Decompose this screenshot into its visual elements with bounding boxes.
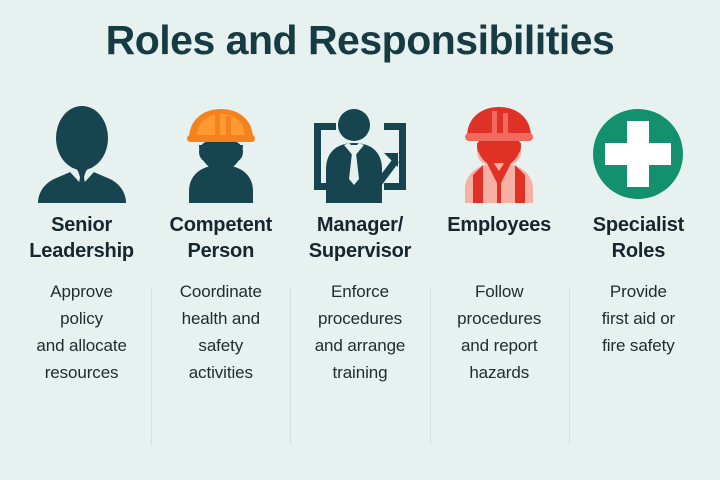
role-column-employees: Employees Follow procedures and report h… bbox=[430, 100, 569, 386]
infographic-poster: Roles and Responsibilities Senior Leader… bbox=[0, 0, 720, 480]
manager-presentation-chart-icon bbox=[306, 100, 414, 208]
role-description: Provide first aid or fire safety bbox=[602, 279, 675, 360]
role-description: Coordinate health and safety activities bbox=[180, 279, 262, 386]
role-description: Enforce procedures and arrange training bbox=[315, 279, 406, 386]
role-desc-line: Coordinate bbox=[180, 279, 262, 306]
role-desc-line: safety bbox=[180, 333, 262, 360]
role-title-line: Competent bbox=[169, 212, 272, 238]
role-desc-line: hazards bbox=[457, 360, 541, 387]
business-person-suit-icon bbox=[30, 100, 134, 208]
role-title-line: Employees bbox=[447, 212, 551, 238]
role-desc-line: Approve bbox=[36, 279, 126, 306]
role-title: Senior Leadership bbox=[29, 212, 134, 266]
worker-red-hardhat-vest-icon bbox=[449, 100, 549, 208]
role-desc-line: Enforce bbox=[315, 279, 406, 306]
person-orange-hardhat-icon bbox=[171, 100, 271, 208]
role-desc-line: Provide bbox=[602, 279, 675, 306]
role-desc-line: procedures bbox=[457, 306, 541, 333]
role-title: Competent Person bbox=[169, 212, 272, 266]
role-desc-line: activities bbox=[180, 360, 262, 387]
roles-columns: Senior Leadership Approve policy and all… bbox=[12, 100, 708, 386]
role-desc-line: procedures bbox=[315, 306, 406, 333]
role-desc-line: fire safety bbox=[602, 333, 675, 360]
role-desc-line: Follow bbox=[457, 279, 541, 306]
role-title-line: Senior bbox=[29, 212, 134, 238]
role-title-line: Supervisor bbox=[309, 238, 411, 264]
role-description: Approve policy and allocate resources bbox=[36, 279, 126, 386]
role-column-specialist-roles: Specialist Roles Provide first aid or fi… bbox=[569, 100, 708, 360]
role-title-line: Roles bbox=[593, 238, 684, 264]
role-title-line: Person bbox=[169, 238, 272, 264]
role-column-competent-person: Competent Person Coordinate health and s… bbox=[151, 100, 290, 386]
role-title: Employees bbox=[447, 212, 551, 266]
role-desc-line: resources bbox=[36, 360, 126, 387]
role-desc-line: health and bbox=[180, 306, 262, 333]
role-desc-line: and arrange bbox=[315, 333, 406, 360]
page-title: Roles and Responsibilities bbox=[0, 18, 720, 63]
role-column-senior-leadership: Senior Leadership Approve policy and all… bbox=[12, 100, 151, 386]
role-title-line: Leadership bbox=[29, 238, 134, 264]
role-title: Specialist Roles bbox=[593, 212, 684, 266]
role-title-line: Specialist bbox=[593, 212, 684, 238]
role-description: Follow procedures and report hazards bbox=[457, 279, 541, 386]
role-desc-line: and allocate bbox=[36, 333, 126, 360]
role-desc-line: policy bbox=[36, 306, 126, 333]
role-desc-line: training bbox=[315, 360, 406, 387]
role-title: Manager/ Supervisor bbox=[309, 212, 411, 266]
role-desc-line: first aid or bbox=[602, 306, 675, 333]
role-column-manager-supervisor: Manager/ Supervisor Enforce procedures a… bbox=[290, 100, 429, 386]
role-desc-line: and report bbox=[457, 333, 541, 360]
medical-cross-circle-icon bbox=[589, 100, 687, 208]
role-title-line: Manager/ bbox=[309, 212, 411, 238]
